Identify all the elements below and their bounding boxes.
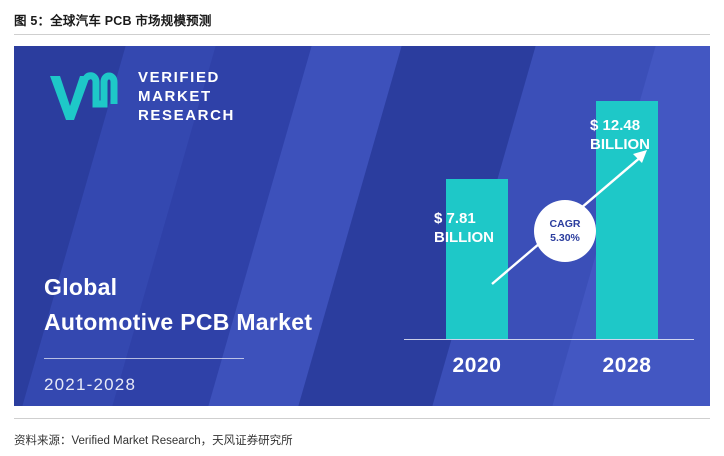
- headline-line-1: Global: [44, 274, 312, 301]
- vmr-monogram-icon: [46, 70, 122, 124]
- brand-line-2: MARKET: [138, 87, 235, 106]
- divider-top: [14, 34, 710, 35]
- figure-caption: 图 5：全球汽车 PCB 市场规模预测: [14, 10, 212, 29]
- cagr-value: 5.30%: [550, 231, 580, 245]
- brand-line-3: RESEARCH: [138, 106, 235, 125]
- headline-divider: [44, 358, 244, 359]
- bar-chart: $ 7.81 BILLION $ 12.48 BILLION CAGR 5.30…: [404, 64, 694, 394]
- cagr-label: CAGR: [550, 217, 581, 231]
- headline-block: Global Automotive PCB Market 2021-2028: [44, 274, 312, 395]
- chart-figure: VERIFIED MARKET RESEARCH Global Automoti…: [14, 46, 710, 406]
- divider-bottom: [14, 418, 710, 419]
- figure-page: 图 5：全球汽车 PCB 市场规模预测 VERIFIED MARKET RESE…: [0, 0, 724, 456]
- source-note: 资料来源：Verified Market Research，天风证券研究所: [14, 432, 293, 448]
- brand-line-1: VERIFIED: [138, 68, 235, 87]
- brand-logo: VERIFIED MARKET RESEARCH: [46, 68, 235, 125]
- x-tick-2020: 2020: [427, 354, 527, 378]
- headline-years: 2021-2028: [44, 375, 312, 395]
- headline-line-2: Automotive PCB Market: [44, 309, 312, 336]
- brand-logo-text: VERIFIED MARKET RESEARCH: [138, 68, 235, 125]
- cagr-badge: CAGR 5.30%: [534, 200, 596, 262]
- x-tick-2028: 2028: [577, 354, 677, 378]
